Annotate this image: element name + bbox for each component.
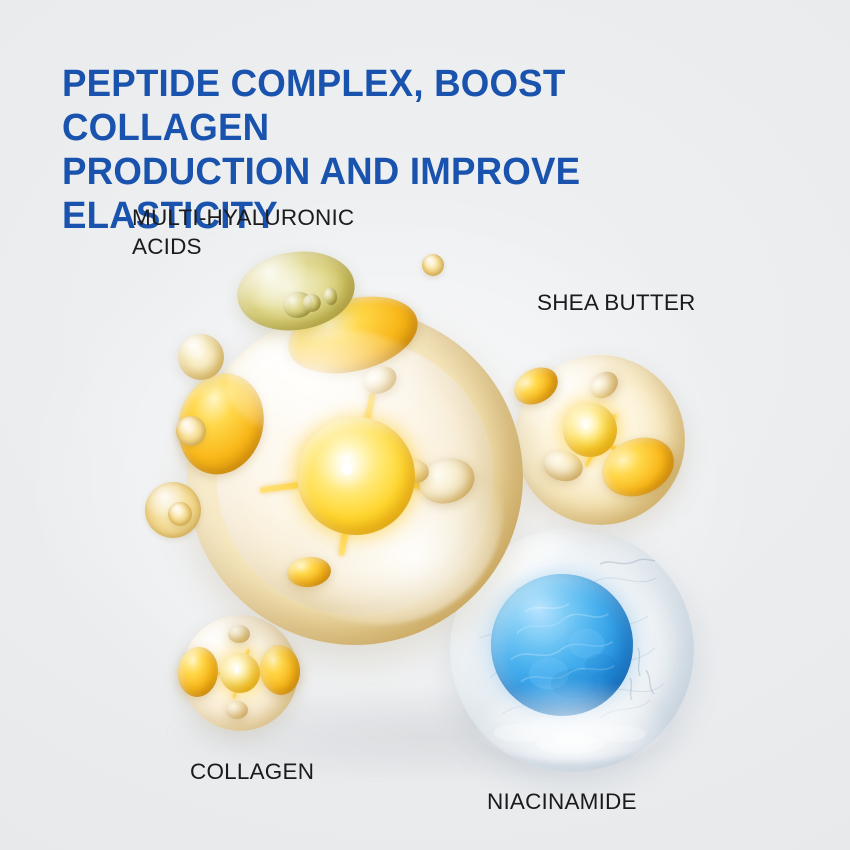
molecule-disc xyxy=(175,645,220,699)
molecule-disc xyxy=(257,643,302,697)
ingredient-label-niacinamide: NIACINAMIDE xyxy=(487,787,637,816)
shea-butter-orb xyxy=(515,355,685,525)
floating-droplet xyxy=(178,334,224,380)
molecule-disc xyxy=(226,701,248,719)
ingredient-label-multi-hyaluronic-acids: MULTI-HYALURONIC ACIDS xyxy=(132,203,354,261)
floating-droplet xyxy=(422,254,444,276)
molecule-disc xyxy=(286,555,333,589)
shea-molecule xyxy=(515,355,685,525)
product-graphic-canvas: PEPTIDE COMPLEX, BOOST COLLAGEN PRODUCTI… xyxy=(0,0,850,850)
ingredient-label-shea-butter: SHEA BUTTER xyxy=(537,288,695,317)
floating-droplet xyxy=(176,416,206,446)
ingredient-label-collagen: COLLAGEN xyxy=(190,757,314,786)
molecule-nucleus xyxy=(220,653,260,693)
molecule-disc xyxy=(585,366,623,404)
capsule-bubble xyxy=(323,286,338,306)
molecule-nucleus xyxy=(563,403,617,457)
floating-droplet xyxy=(168,502,192,526)
orb-gloss-sweep xyxy=(227,329,435,443)
ice-foam-band xyxy=(470,679,675,762)
main-golden-orb xyxy=(187,309,523,645)
